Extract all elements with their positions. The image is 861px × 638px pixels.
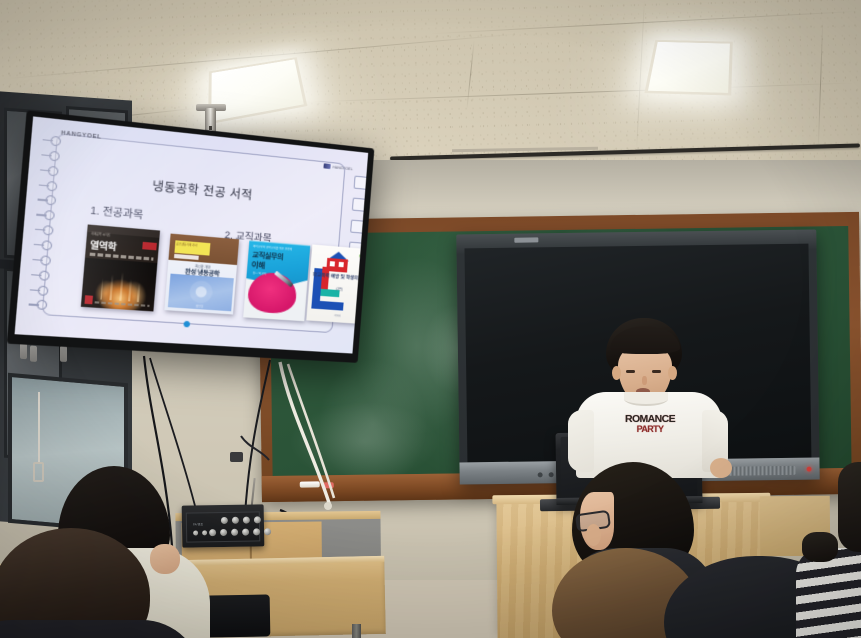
tv-bezel: HANGYOEL HANGYOEL 냉동공학 전공 서적 1. 전공과목 2. …	[7, 110, 375, 363]
display-brand-badge	[514, 237, 538, 242]
amplifier-knob-row-bottom[interactable]	[209, 528, 271, 536]
presenter-ear-right	[668, 366, 677, 380]
book1-title: 열역학	[90, 238, 117, 254]
book-cover-thermodynamics: 기계공학 시리즈 열역학	[80, 225, 160, 311]
amplifier-label: PA 앰프	[193, 522, 203, 526]
presenter-collar	[624, 392, 668, 406]
presenter-arm-left	[568, 410, 594, 472]
blind-cord[interactable]	[38, 392, 40, 464]
amplifier-knob-row-top[interactable]	[221, 516, 261, 524]
presenter-nose	[642, 376, 647, 385]
book-cover-school-violence: 학교폭력 예방 및 학생의 이해 (2판) 학지사	[306, 245, 368, 324]
book4-house-body-icon	[327, 258, 349, 273]
window-handle-5[interactable]	[30, 345, 37, 361]
window-handle-6[interactable]	[60, 346, 67, 362]
book3-title-line2: 이해	[251, 259, 265, 271]
presenter-hand-right	[710, 458, 732, 478]
window-handle-4[interactable]	[20, 343, 27, 359]
presenter-ear-left	[612, 366, 621, 380]
blind-cord-weight[interactable]	[33, 462, 44, 482]
pa-amplifier[interactable]: PA 앰프	[182, 504, 265, 547]
book4-leaf-icon	[359, 253, 367, 262]
wall-outlet[interactable]	[230, 452, 243, 462]
presenter: ROMANCE PARTY	[568, 318, 728, 478]
presenter-shirt-graphic: ROMANCE PARTY	[604, 414, 696, 444]
desk-leg-right	[352, 624, 361, 638]
audience-right-striped-head	[802, 532, 838, 562]
book-cover-teaching-practice: 예비교사와 현직교사를 위한 길잡이 교직실무의 이해 김○○ 외 공저	[243, 241, 310, 321]
classroom-scene: HANGYOEL HANGYOEL 냉동공학 전공 서적 1. 전공과목 2. …	[0, 0, 861, 638]
book-cover-refrigeration: 공조냉동기계 기사 최신판 개정 완성 냉동공학 성안당	[164, 234, 239, 314]
amplifier-small-knobs[interactable]	[193, 530, 207, 535]
tv-screen[interactable]: HANGYOEL HANGYOEL 냉동공학 전공 서적 1. 전공과목 2. …	[15, 116, 369, 353]
book1-publisher-badge	[84, 295, 93, 304]
display-power-led	[807, 467, 812, 472]
presenter-eye-right	[652, 370, 661, 373]
wall-mounted-tv[interactable]: HANGYOEL HANGYOEL 냉동공학 전공 서적 1. 전공과목 2. …	[7, 110, 375, 363]
audience-center-ear	[586, 524, 601, 546]
slide-book-covers: 기계공학 시리즈 열역학	[15, 116, 369, 353]
shirt-graphic-line2: PARTY	[604, 425, 696, 434]
book4-publisher: 학지사	[306, 312, 367, 320]
audience-right-arm	[838, 462, 861, 552]
book1-red-tag	[142, 242, 157, 250]
presenter-eye-left	[626, 370, 635, 373]
wall-outlet-cable	[239, 434, 279, 464]
audience-right-striped	[796, 548, 861, 638]
ceiling-light-panel-right	[644, 40, 733, 96]
audience-left-back-hand	[150, 544, 180, 574]
book1-kicker: 기계공학 시리즈	[91, 232, 111, 238]
